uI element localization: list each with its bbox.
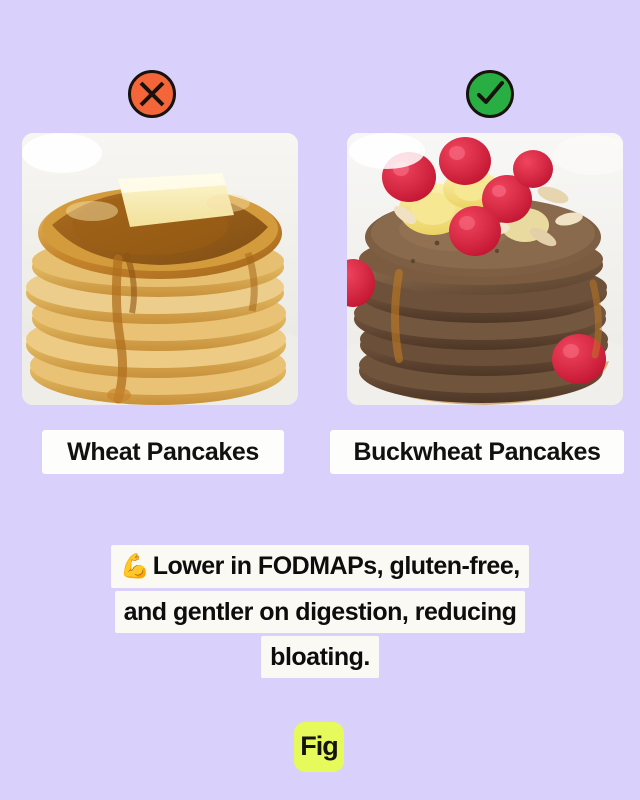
wheat-pancakes-label-text: Wheat Pancakes [67,438,259,467]
check-circle-icon [466,70,514,118]
wheat-pancakes-photo [22,133,298,405]
verdict-icon-row [0,70,640,120]
caption-line-3: bloating. [261,636,379,678]
flexed-biceps-icon: 💪 [120,553,149,580]
buckwheat-pancakes-label: Buckwheat Pancakes [330,430,624,474]
fig-brand-text: Fig [300,733,338,760]
buckwheat-pancakes-label-text: Buckwheat Pancakes [353,438,600,467]
cross-circle-icon [128,70,176,118]
comparison-card: Wheat Pancakes Buckwheat Pancakes 💪Lower… [0,0,640,800]
wheat-pancakes-label: Wheat Pancakes [42,430,284,474]
fig-brand-badge[interactable]: Fig [294,722,344,772]
caption-block: 💪Lower in FODMAPs, gluten-free, and gent… [0,545,640,681]
caption-line-2: and gentler on digestion, reducing [115,591,526,633]
buckwheat-pancakes-photo [347,133,623,405]
caption-line-1: 💪Lower in FODMAPs, gluten-free, [111,545,528,588]
caption-line-1-text: Lower in FODMAPs, gluten-free, [153,552,520,580]
